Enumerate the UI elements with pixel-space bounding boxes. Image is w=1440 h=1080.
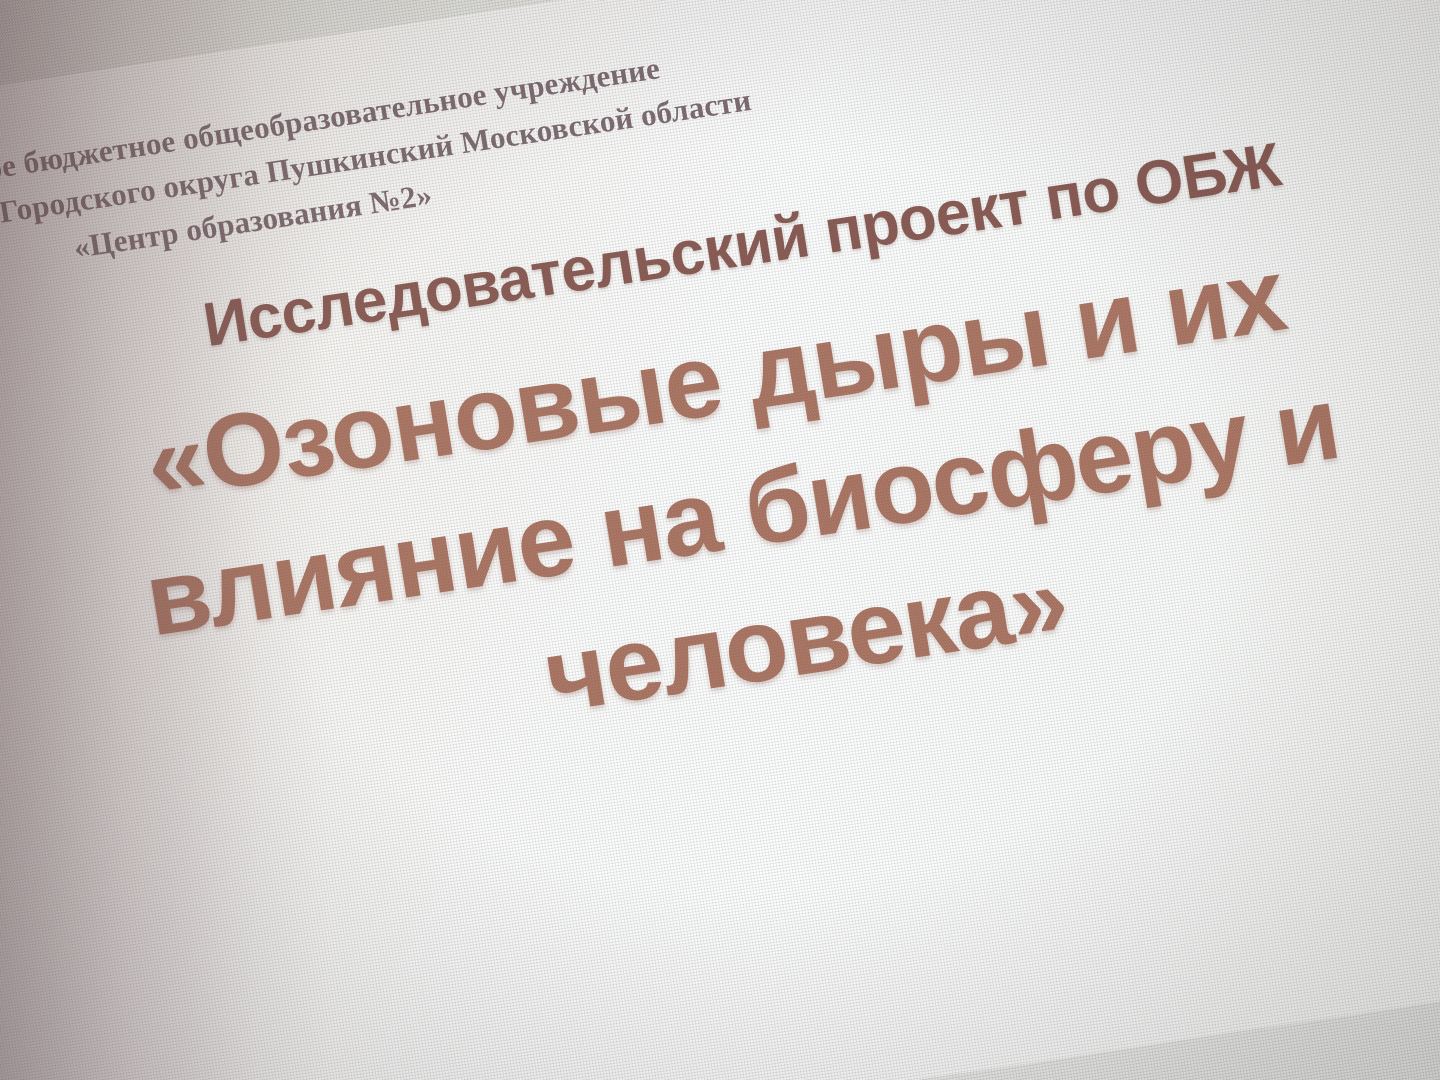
projected-slide: ое бюджетное общеобразовательное учрежде… (0, 0, 1440, 1080)
photo-scene: ое бюджетное общеобразовательное учрежде… (0, 0, 1440, 1080)
